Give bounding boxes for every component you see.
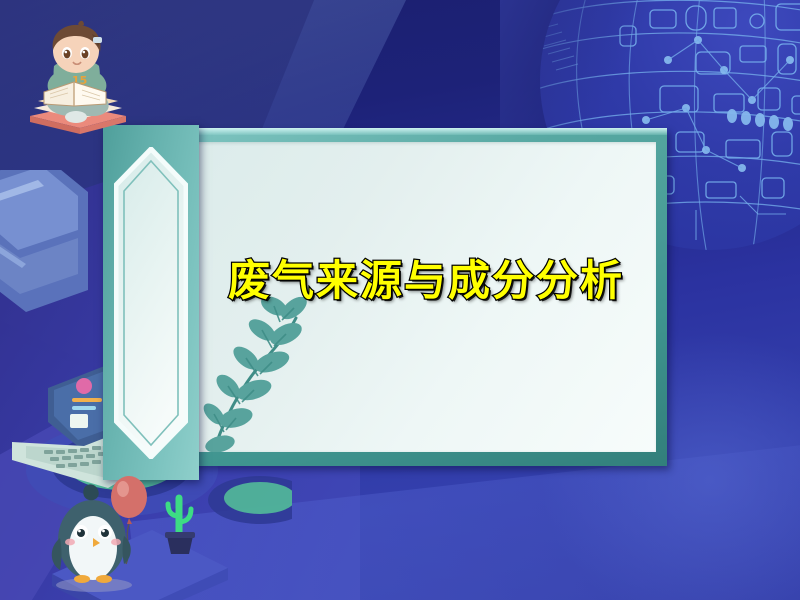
hexagon-outline-icon — [114, 147, 188, 459]
boy-reading-graphic: 15 — [14, 20, 144, 145]
slide-title: 废气来源与成分分析 — [185, 260, 667, 302]
penguin-graphic — [36, 466, 166, 594]
decorative-side-panel — [103, 125, 199, 480]
monitor-graphic — [0, 170, 88, 312]
slide-canvas: 15 — [0, 0, 800, 600]
cactus-graphic — [160, 494, 200, 556]
content-frame: 废气来源与成分分析 — [185, 128, 667, 466]
